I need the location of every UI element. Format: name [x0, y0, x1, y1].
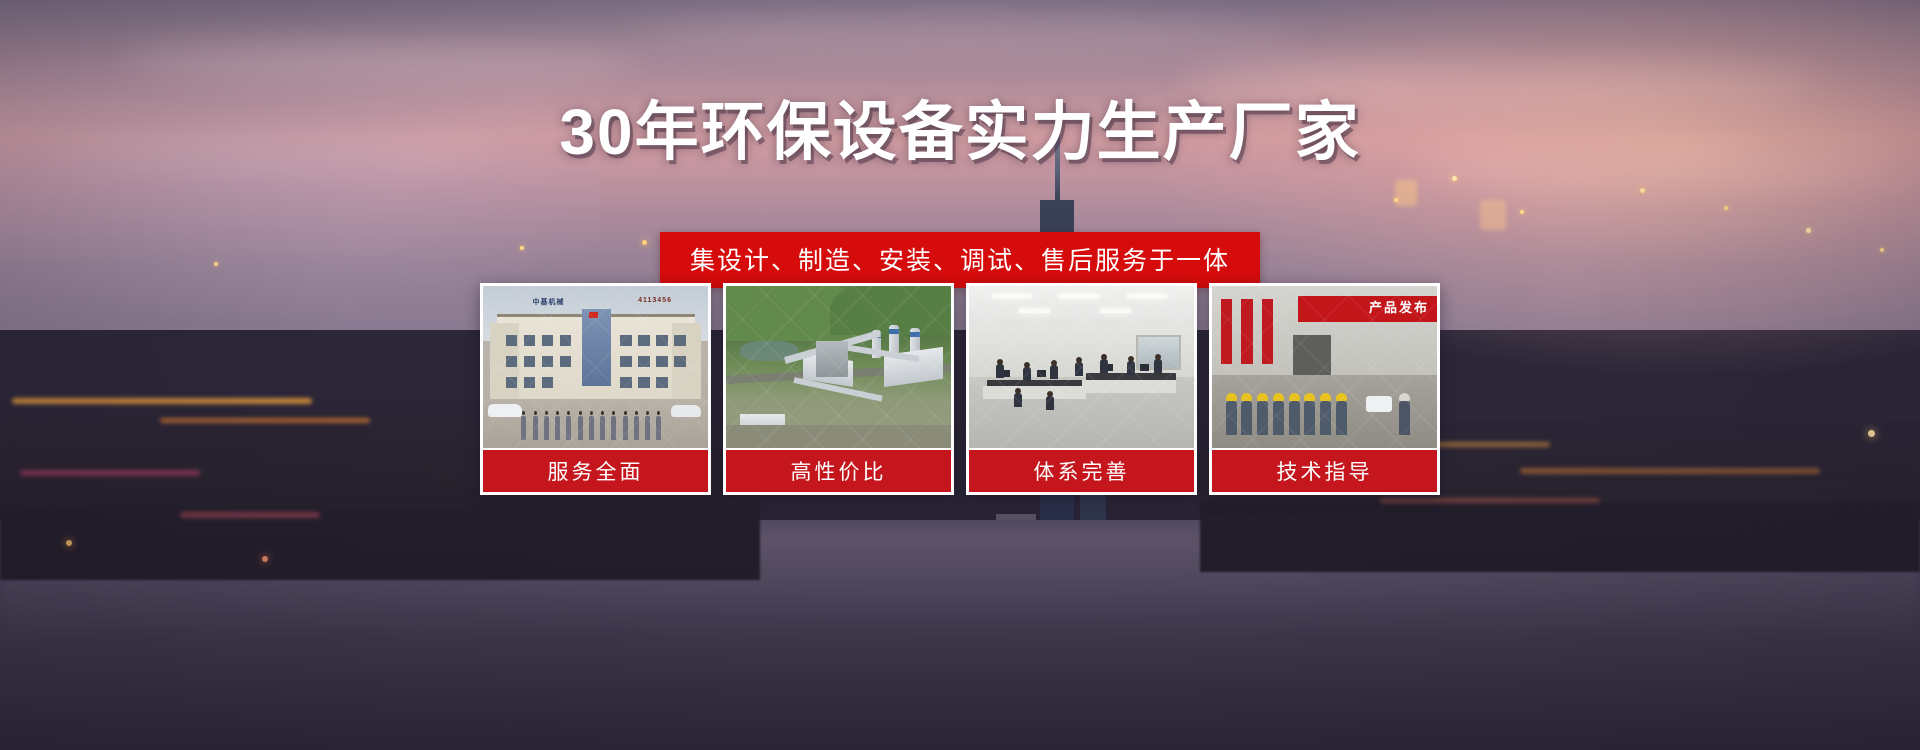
- vehicle: [1366, 396, 1392, 412]
- building-logo-text: 中基机械: [533, 297, 565, 307]
- banner-content: 30年环保设备实力生产厂家 集设计、制造、安装、调试、售后服务于一体 中基机械 …: [0, 0, 1920, 750]
- card-photo-office-building: 中基机械 4113456: [483, 286, 708, 448]
- card-photo-aerial-plant: [726, 286, 951, 448]
- factory-banner: 产品发布: [1298, 296, 1438, 322]
- feature-card[interactable]: 高性价比: [723, 283, 954, 495]
- feature-card[interactable]: 中基机械 4113456: [480, 283, 711, 495]
- feature-card[interactable]: 体系完善: [966, 283, 1197, 495]
- card-label: 体系完善: [969, 448, 1194, 492]
- card-label: 技术指导: [1212, 448, 1437, 492]
- hero-banner: 30年环保设备实力生产厂家 集设计、制造、安装、调试、售后服务于一体 中基机械 …: [0, 0, 1920, 750]
- card-label: 服务全面: [483, 448, 708, 492]
- page-title: 30年环保设备实力生产厂家: [0, 100, 1920, 164]
- feature-card[interactable]: 产品发布: [1209, 283, 1440, 495]
- card-label: 高性价比: [726, 448, 951, 492]
- factory-banner-text: 产品发布: [1369, 297, 1429, 316]
- subtitle-banner: 集设计、制造、安装、调试、售后服务于一体: [660, 232, 1260, 288]
- feature-card-list: 中基机械 4113456: [480, 283, 1440, 495]
- flag-icon: [589, 312, 598, 318]
- card-photo-factory-workers: 产品发布: [1212, 286, 1437, 448]
- card-photo-office-interior: [969, 286, 1194, 448]
- building-phone-text: 4113456: [638, 297, 672, 304]
